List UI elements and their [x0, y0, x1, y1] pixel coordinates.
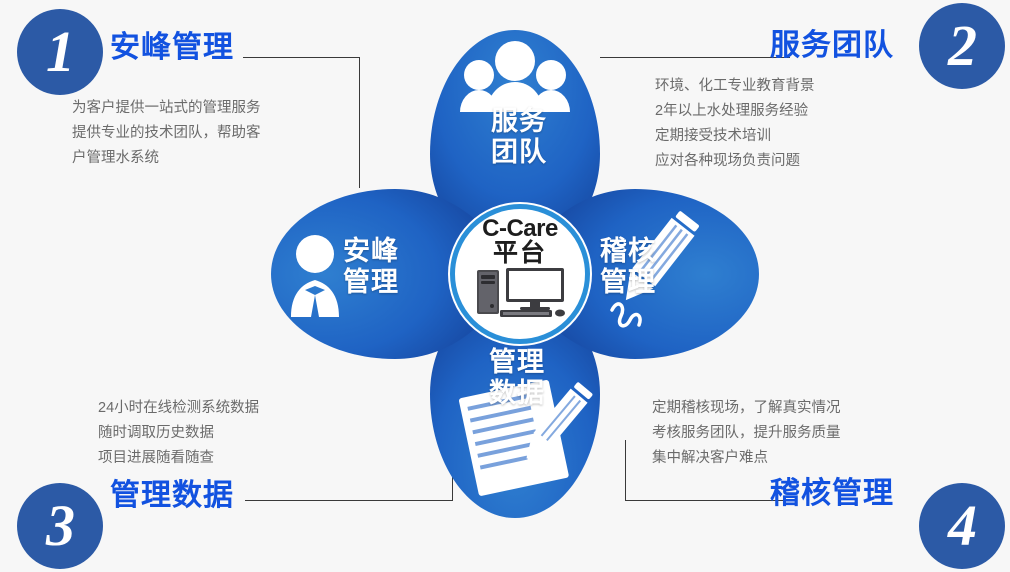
petal-label-audit-management: 稽核 管理 [600, 236, 692, 298]
hub-subtitle: 平台 [493, 241, 547, 265]
description-line: 提供专业的技术团队，帮助客 [72, 121, 261, 146]
section-title-4: 稽核管理 [770, 468, 894, 512]
section-description-3: 24小时在线检测系统数据 随时调取历史数据 项目进展随看随查 [98, 396, 259, 471]
number-badge-2: 2 [919, 3, 1005, 89]
desktop-computer-icon [470, 266, 570, 318]
petal-label-service-team: 服务 团队 [474, 106, 564, 168]
number-badge-4: 4 [919, 483, 1005, 569]
section-title-3: 管理数据 [110, 470, 234, 514]
description-line: 随时调取历史数据 [98, 421, 259, 446]
infographic-canvas: 1 2 3 4 安峰管理 服务团队 管理数据 稽核管理 为客户提供一站式的管理服… [0, 0, 1010, 572]
petal-label-management-data: 管理 数据 [465, 347, 569, 409]
description-line: 为客户提供一站式的管理服务 [72, 96, 261, 121]
description-line: 户管理水系统 [72, 146, 261, 171]
number-badge-3: 3 [17, 483, 103, 569]
flower-diagram: 服务 团队 安峰 管理 稽核 管理 管理 数据 C-Care 平台 [255, 14, 775, 534]
petal-label-anfeng-management: 安峰 管理 [343, 236, 435, 298]
center-hub: C-Care 平台 [450, 204, 590, 344]
description-line: 24小时在线检测系统数据 [98, 396, 259, 421]
number-badge-1: 1 [17, 9, 103, 95]
hub-title: C-Care [482, 218, 558, 240]
section-description-1: 为客户提供一站式的管理服务 提供专业的技术团队，帮助客 户管理水系统 [72, 96, 261, 171]
section-title-2: 服务团队 [770, 20, 894, 64]
description-line: 项目进展随看随查 [98, 446, 259, 471]
section-title-1: 安峰管理 [110, 22, 234, 66]
